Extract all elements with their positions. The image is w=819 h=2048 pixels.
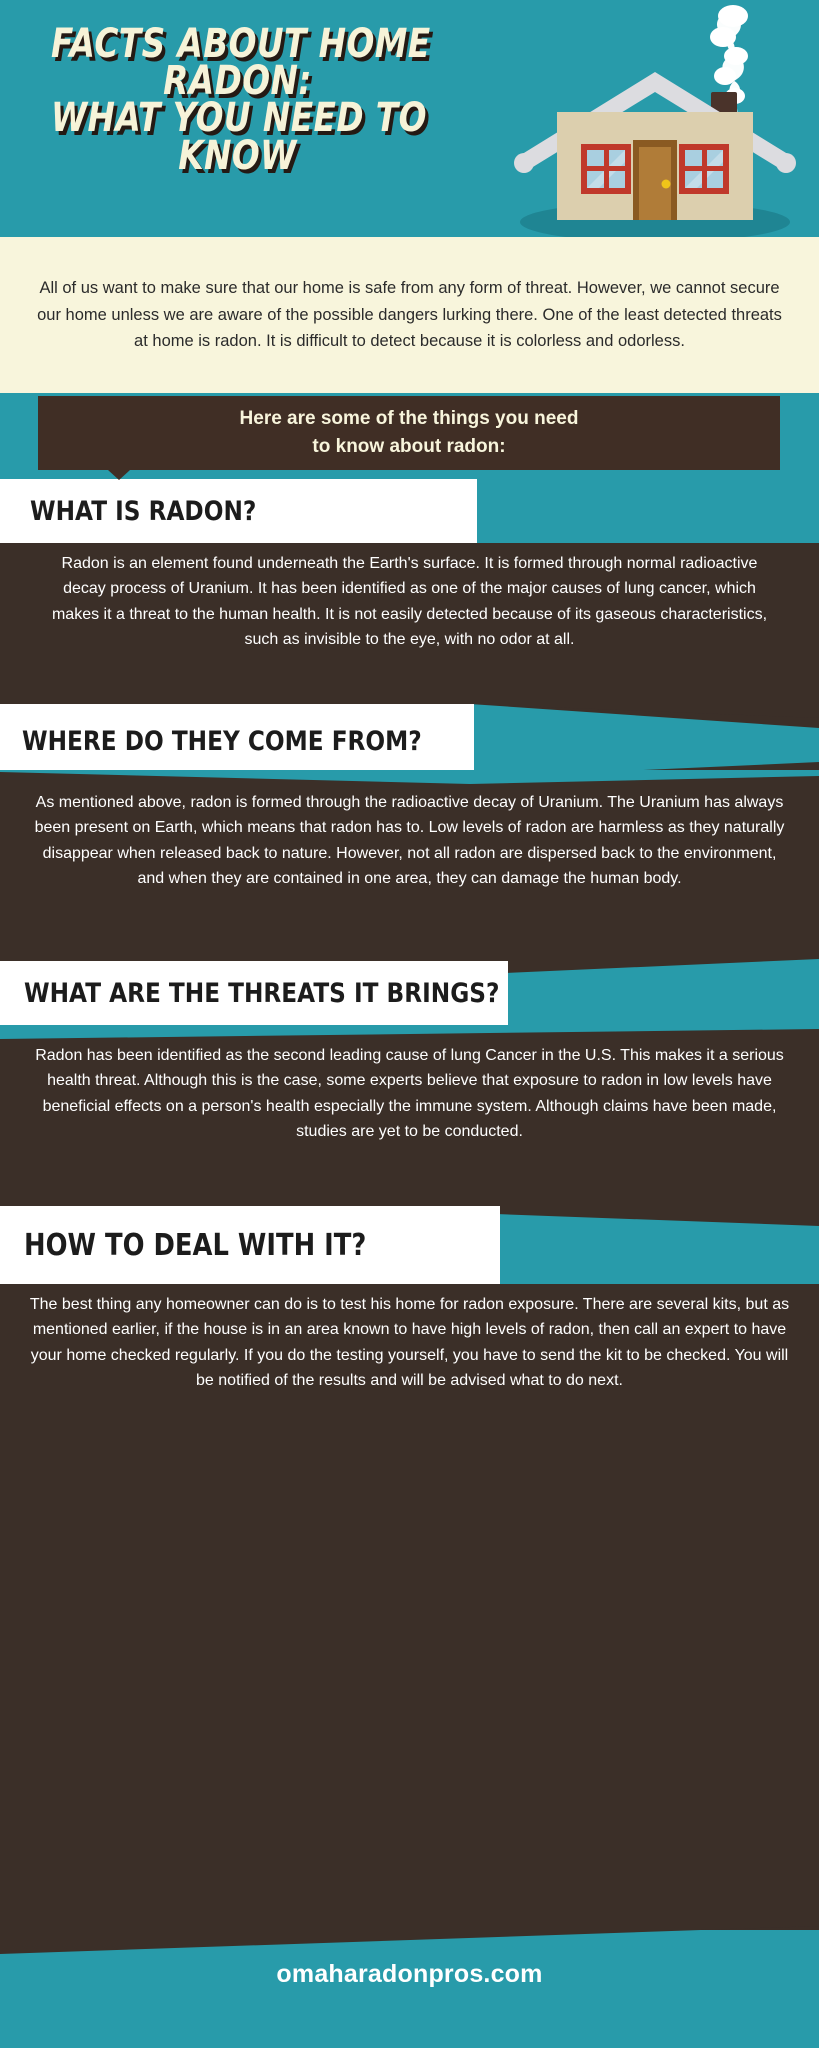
- section-heading-1: WHAT IS RADON?: [30, 496, 256, 527]
- section-heading-box-1: WHAT IS RADON?: [0, 479, 477, 543]
- banner-line-1: Here are some of the things you need: [240, 405, 579, 434]
- section-body-4: The best thing any homeowner can do is t…: [22, 1292, 797, 1393]
- banner-box: Here are some of the things you need to …: [38, 396, 780, 470]
- section-body-1: Radon is an element found underneath the…: [44, 551, 775, 652]
- intro-section: All of us want to make sure that our hom…: [0, 237, 819, 393]
- section-body-2: As mentioned above, radon is formed thro…: [34, 790, 785, 891]
- section-heading-box-3: WHAT ARE THE THREATS IT BRINGS?: [0, 961, 508, 1025]
- section-heading-4: HOW TO DEAL WITH IT?: [24, 1228, 366, 1263]
- website-link[interactable]: omaharadonpros.com: [0, 1960, 819, 1989]
- title-line-4: KNOW: [51, 138, 424, 175]
- page-title: FACTS ABOUT HOME RADON: WHAT YOU NEED TO…: [10, 26, 465, 175]
- section-body-3: Radon has been identified as the second …: [22, 1043, 797, 1144]
- section-heading-2: WHERE DO THEY COME FROM?: [22, 726, 422, 757]
- section-heading-3: WHAT ARE THE THREATS IT BRINGS?: [24, 978, 499, 1009]
- intro-paragraph: All of us want to make sure that our hom…: [37, 275, 782, 355]
- banner-line-2: to know about radon:: [312, 433, 505, 462]
- house-icon: [505, 4, 805, 237]
- section-heading-box-2: WHERE DO THEY COME FROM?: [0, 704, 474, 778]
- infographic-page: FACTS ABOUT HOME RADON: WHAT YOU NEED TO…: [0, 0, 819, 2048]
- section-heading-box-4: HOW TO DEAL WITH IT?: [0, 1206, 500, 1284]
- banner-tail-icon: [108, 470, 130, 480]
- header-section: FACTS ABOUT HOME RADON: WHAT YOU NEED TO…: [0, 0, 819, 237]
- lower-brown-fill: [0, 1474, 819, 1934]
